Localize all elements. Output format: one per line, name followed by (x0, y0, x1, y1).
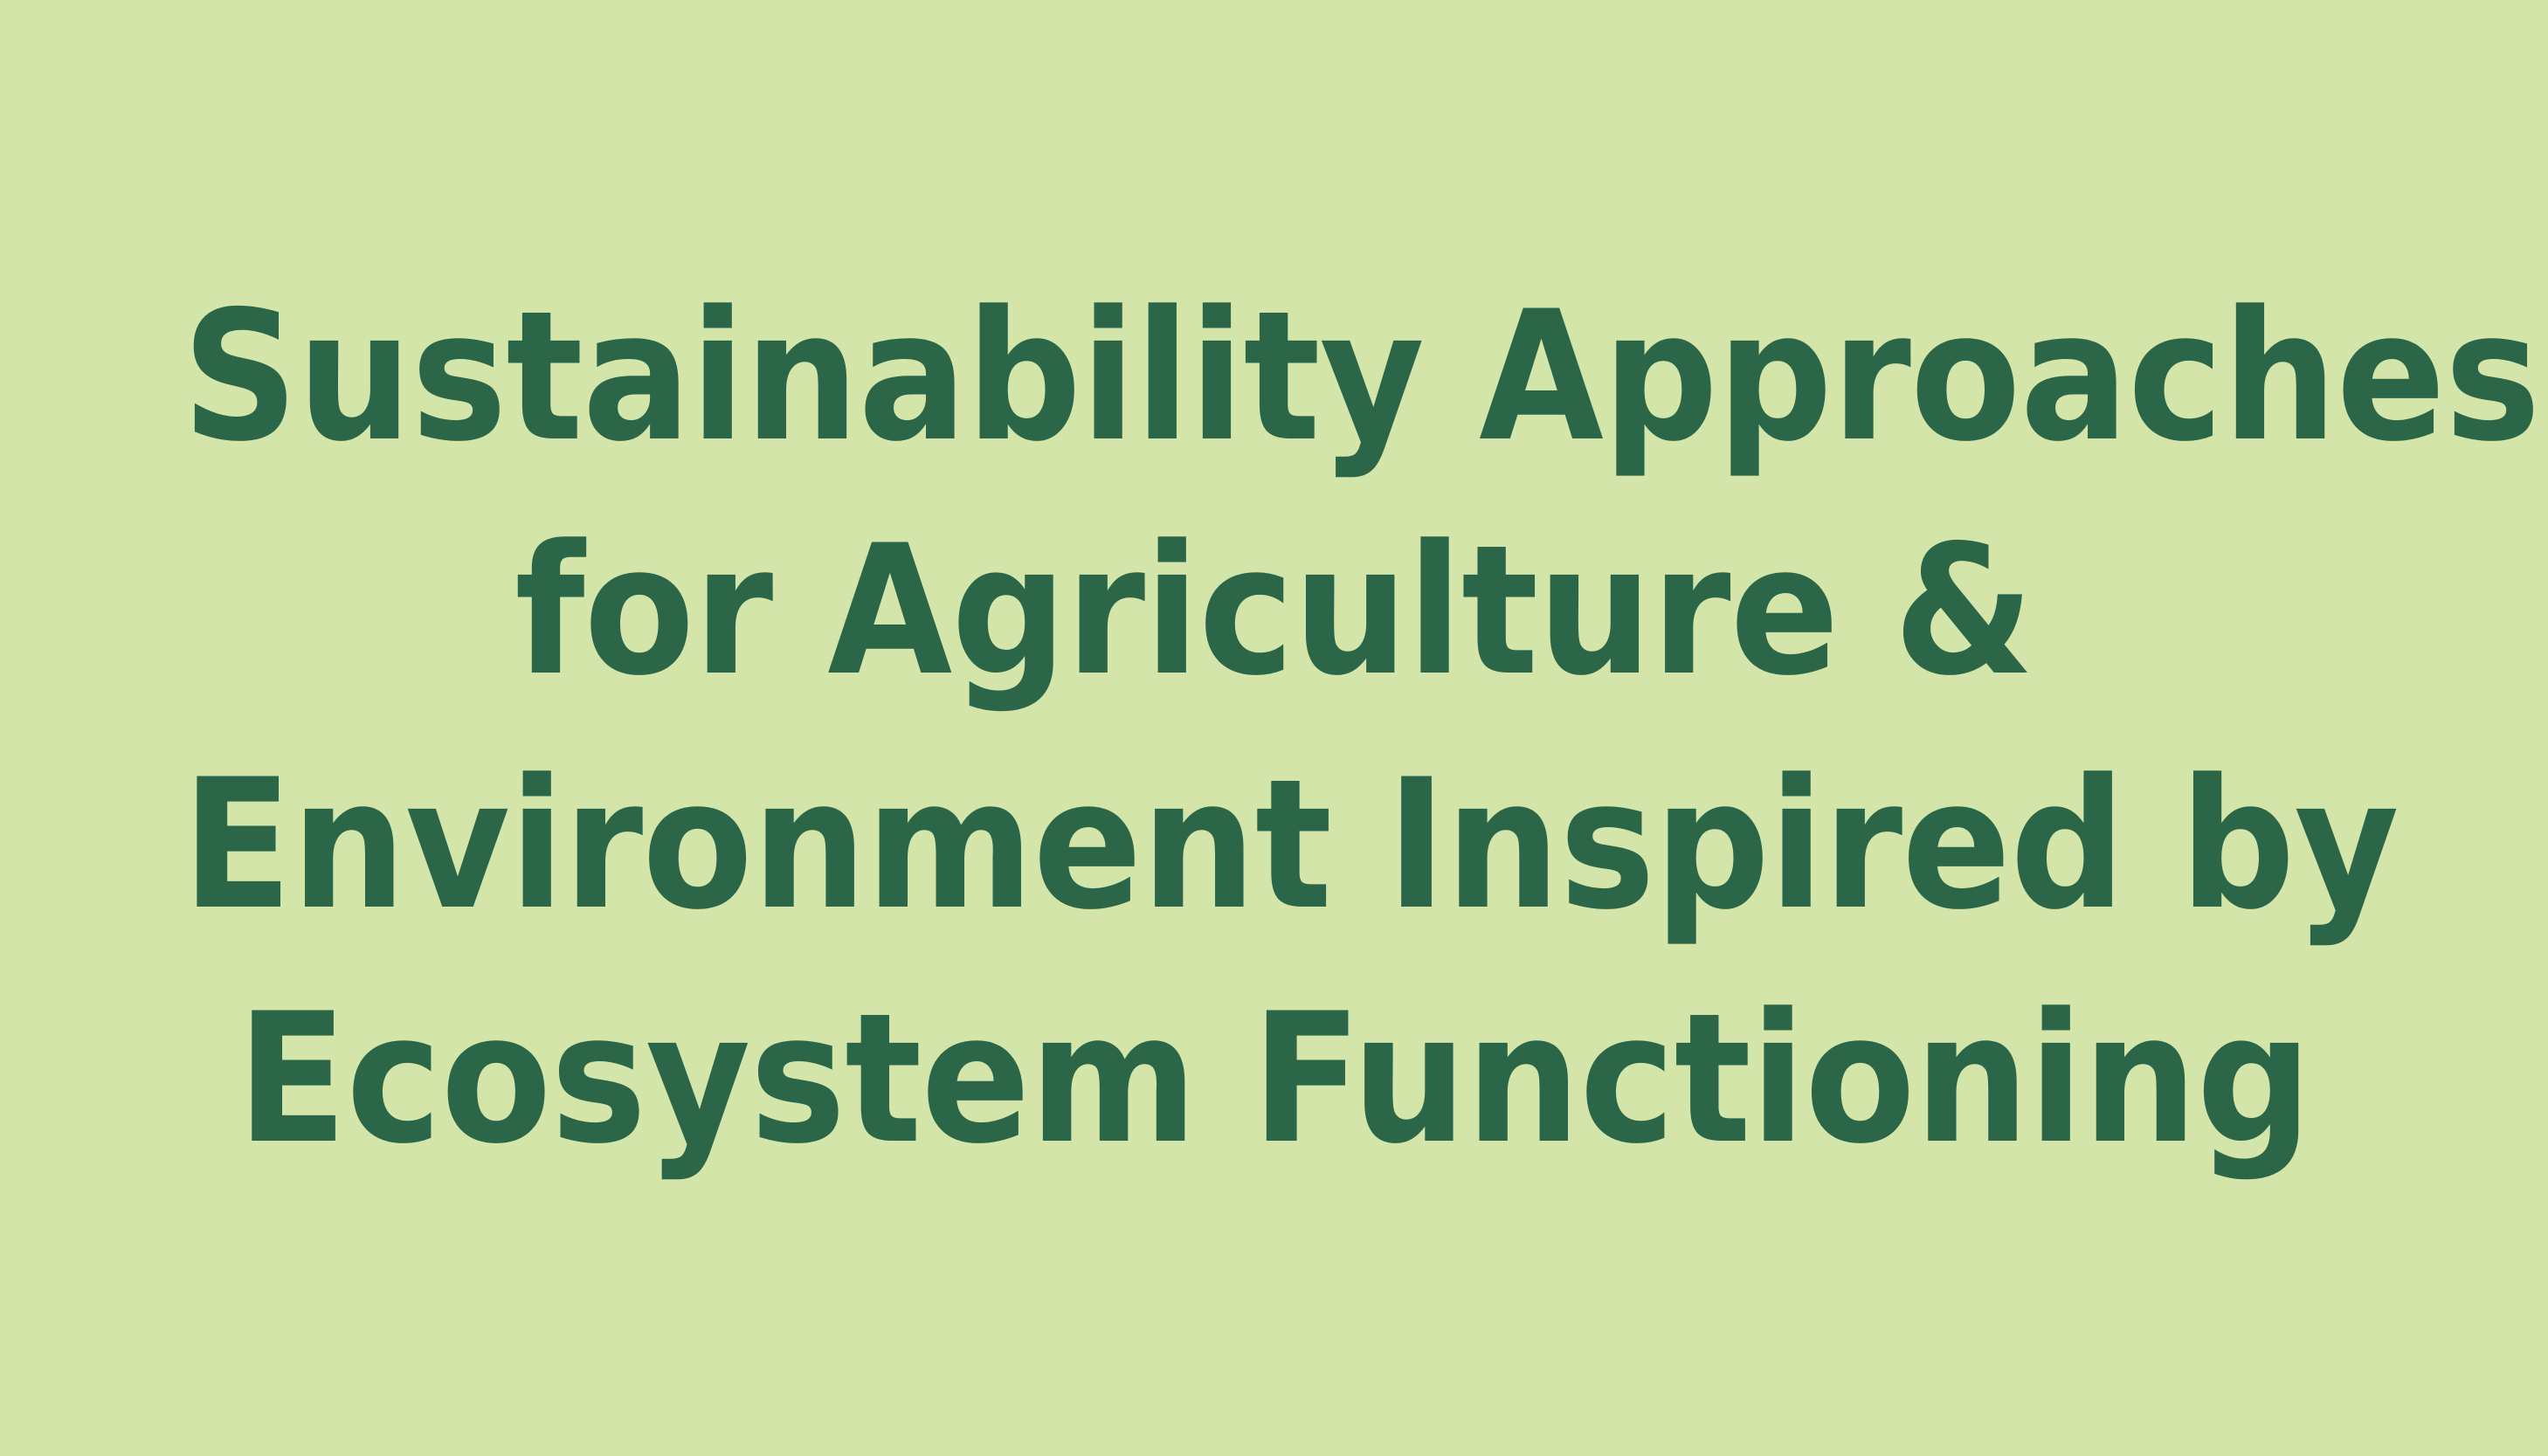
page-title: Sustainability Approaches for Agricultur… (183, 260, 2366, 1197)
title-line-4: Ecosystem Functioning (183, 963, 2366, 1197)
title-line-3: Environment Inspired by (183, 728, 2366, 963)
title-line-1: Sustainability Approaches (183, 260, 2366, 494)
title-line-2: for Agriculture & (183, 494, 2366, 728)
title-card: Sustainability Approaches for Agricultur… (0, 0, 2548, 1456)
